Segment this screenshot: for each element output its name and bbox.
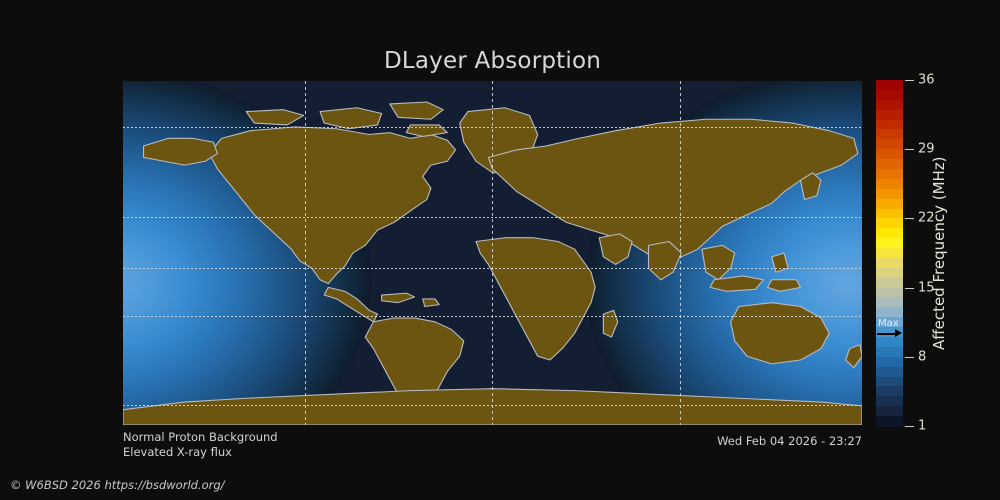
colorbar-max-marker: Max [876, 318, 903, 338]
colorbar-gradient [876, 80, 903, 426]
max-arrow-icon [876, 329, 903, 338]
colorbar-tick [905, 218, 914, 219]
colorbar-tick [905, 288, 914, 289]
gridline-lon-90w [305, 81, 306, 425]
copyright-footer: © W6BSD 2026 https://bsdworld.org/ [10, 478, 225, 492]
dlayer-absorption-page: DLayer Absorption [0, 0, 1000, 500]
page-title: DLayer Absorption [0, 48, 985, 74]
colorbar-title: Affected Frequency (MHz) [928, 80, 950, 426]
colorbar-tick-label: 1 [918, 419, 926, 434]
colorbar-band [876, 416, 903, 426]
colorbar[interactable]: Max [876, 80, 903, 426]
gridline-lon-0 [492, 81, 493, 425]
colorbar-tick [905, 80, 914, 81]
colorbar-tick [905, 426, 914, 427]
world-absorption-map[interactable] [123, 81, 862, 425]
gridline-lon-90e [680, 81, 681, 425]
colorbar-tick-label: 8 [918, 349, 926, 364]
colorbar-tick [905, 357, 914, 358]
colorbar-tick [905, 149, 914, 150]
colorbar-max-label: Max [876, 318, 903, 329]
timestamp-label: Wed Feb 04 2026 - 23:27 [0, 434, 862, 448]
